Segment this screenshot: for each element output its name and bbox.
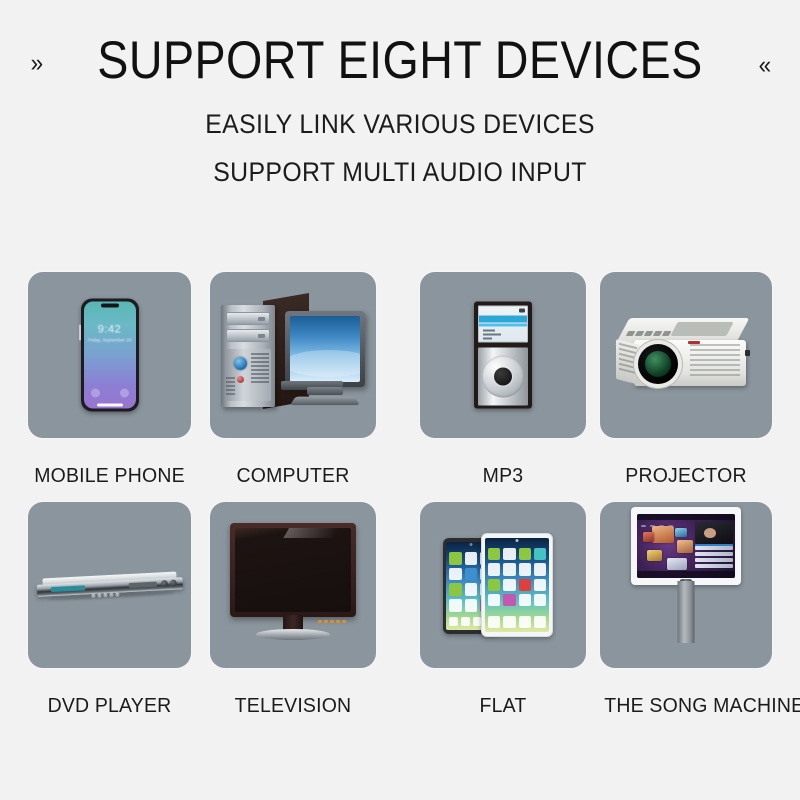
- karaoke-video-preview: [695, 522, 733, 544]
- karaoke-keyboard-icon: [695, 546, 733, 568]
- reset-button-icon: [237, 376, 244, 383]
- device-label-song-machine: THE SONG MACHINE: [604, 694, 767, 718]
- karaoke-screen: [637, 514, 735, 578]
- tablet-icon: [443, 533, 563, 637]
- projector-sensor-icon: [745, 350, 750, 356]
- monitor-icon: [285, 311, 365, 387]
- tv-screen-glare: [284, 528, 344, 538]
- desktop-computer-icon: [219, 291, 367, 419]
- projector-grille-icon: [690, 344, 740, 380]
- tower-slots-icon: [251, 353, 269, 393]
- device-label-flat: FLAT: [424, 694, 582, 718]
- device-label-projector: PROJECTOR: [604, 464, 767, 488]
- phone-flashlight-icon: [91, 389, 100, 398]
- subtitle-line-2: SUPPORT MULTI AUDIO INPUT: [32, 157, 768, 188]
- tablet-dock: [488, 616, 546, 628]
- product-feature-banner: » SUPPORT EIGHT DEVICES « EASILY LINK VA…: [0, 0, 800, 800]
- projector-logo: [688, 341, 700, 344]
- device-row-1: 9:42 Friday, September 20 MOBILE PHONE: [0, 272, 800, 502]
- device-cell-dvd-player: DVD PLAYER: [28, 502, 191, 668]
- tv-indicator-leds-icon: [318, 610, 348, 614]
- device-thumb-mobile-phone: 9:42 Friday, September 20: [28, 272, 191, 438]
- device-grid: 9:42 Friday, September 20 MOBILE PHONE: [0, 272, 800, 732]
- smartphone-icon: 9:42 Friday, September 20: [81, 299, 139, 412]
- device-label-dvd-player: DVD PLAYER: [32, 694, 187, 718]
- karaoke-stand-pole: [678, 581, 695, 643]
- tower-vent-icon: [226, 377, 235, 399]
- device-cell-flat: FLAT: [420, 502, 586, 668]
- front-camera-icon: [470, 543, 473, 546]
- tv-stand-base: [256, 629, 330, 640]
- device-label-computer: COMPUTER: [214, 464, 372, 488]
- device-cell-mp3: MP3: [420, 272, 586, 438]
- drive-bay-icon: [226, 329, 270, 342]
- mp3-screen-text-line: [483, 334, 501, 336]
- mp3-body: [478, 348, 528, 406]
- select-button-icon: [494, 368, 512, 386]
- mp3-screen: [478, 306, 528, 343]
- device-thumb-television: [210, 502, 376, 668]
- karaoke-display-frame: [631, 507, 741, 585]
- device-thumb-song-machine: [600, 502, 772, 668]
- device-row-2: DVD PLAYER TELEV: [0, 502, 800, 732]
- power-button-icon: [234, 357, 247, 370]
- karaoke-thumbnail: [647, 550, 662, 561]
- device-thumb-computer: [210, 272, 376, 438]
- karaoke-thumbnail: [675, 528, 687, 537]
- karaoke-machine-icon: [623, 507, 749, 643]
- monitor-base: [290, 397, 360, 405]
- television-icon: [230, 523, 356, 641]
- projector-control-buttons: [627, 323, 684, 333]
- device-cell-mobile-phone: 9:42 Friday, September 20 MOBILE PHONE: [28, 272, 191, 438]
- phone-home-indicator-icon: [97, 404, 123, 407]
- monitor-screen: [290, 316, 360, 382]
- projector-lens-icon: [638, 344, 678, 384]
- device-label-mp3: MP3: [424, 464, 582, 488]
- mp3-screen-highlight: [479, 316, 527, 323]
- device-thumb-mp3: [420, 272, 586, 438]
- karaoke-thumbnail: [667, 558, 687, 570]
- karaoke-top-bar: [637, 514, 735, 520]
- mp3-screen-highlight: [479, 324, 527, 327]
- mp3-screen-text-line: [483, 330, 495, 332]
- phone-notch-icon: [101, 304, 119, 308]
- mp3-screen-text-line: [483, 338, 492, 340]
- tv-screen: [235, 528, 351, 612]
- chevron-left-decoration-icon: «: [759, 53, 770, 78]
- tablet-white: [481, 533, 553, 637]
- device-cell-television: TELEVISION: [210, 502, 376, 668]
- page-title: SUPPORT EIGHT DEVICES: [97, 34, 702, 87]
- front-camera-icon: [516, 539, 519, 542]
- banner-header: » SUPPORT EIGHT DEVICES « EASILY LINK VA…: [0, 0, 800, 188]
- device-thumb-projector: [600, 272, 772, 438]
- dvd-player-icon: [36, 572, 183, 606]
- chevron-right-decoration-icon: »: [31, 51, 42, 76]
- drive-bay-icon: [226, 312, 270, 325]
- tv-bezel: [230, 523, 356, 617]
- karaoke-thumbnail: [677, 540, 693, 553]
- phone-side-button-icon: [79, 325, 81, 341]
- tablet-app-grid: [488, 548, 546, 606]
- title-row: » SUPPORT EIGHT DEVICES «: [0, 34, 800, 87]
- karaoke-thumbnail: [652, 526, 674, 543]
- phone-lockscreen-date: Friday, September 20: [84, 338, 136, 343]
- phone-camera-icon: [120, 389, 129, 398]
- phone-lockscreen-time: 9:42: [84, 324, 136, 336]
- mp3-player-icon: [474, 302, 532, 409]
- device-label-television: TELEVISION: [214, 694, 372, 718]
- device-cell-projector: PROJECTOR: [600, 272, 772, 438]
- device-label-mobile-phone: MOBILE PHONE: [32, 464, 187, 488]
- karaoke-bottom-bar: [637, 571, 735, 578]
- battery-icon: [519, 309, 525, 313]
- device-thumb-flat: [420, 502, 586, 668]
- click-wheel-icon: [482, 356, 524, 398]
- subtitle-line-1: EASILY LINK VARIOUS DEVICES: [32, 109, 768, 140]
- karaoke-thumbnail: [643, 532, 654, 542]
- projector-icon: [616, 316, 756, 400]
- tablet-white-screen: [485, 538, 549, 632]
- computer-tower-icon: [221, 305, 275, 407]
- device-thumb-dvd-player: [28, 502, 191, 668]
- projector-side-vent-icon: [616, 339, 640, 385]
- phone-screen: 9:42 Friday, September 20: [84, 302, 136, 409]
- device-cell-computer: COMPUTER: [210, 272, 376, 438]
- monitor-neck: [307, 387, 343, 395]
- device-cell-song-machine: THE SONG MACHINE: [600, 502, 772, 668]
